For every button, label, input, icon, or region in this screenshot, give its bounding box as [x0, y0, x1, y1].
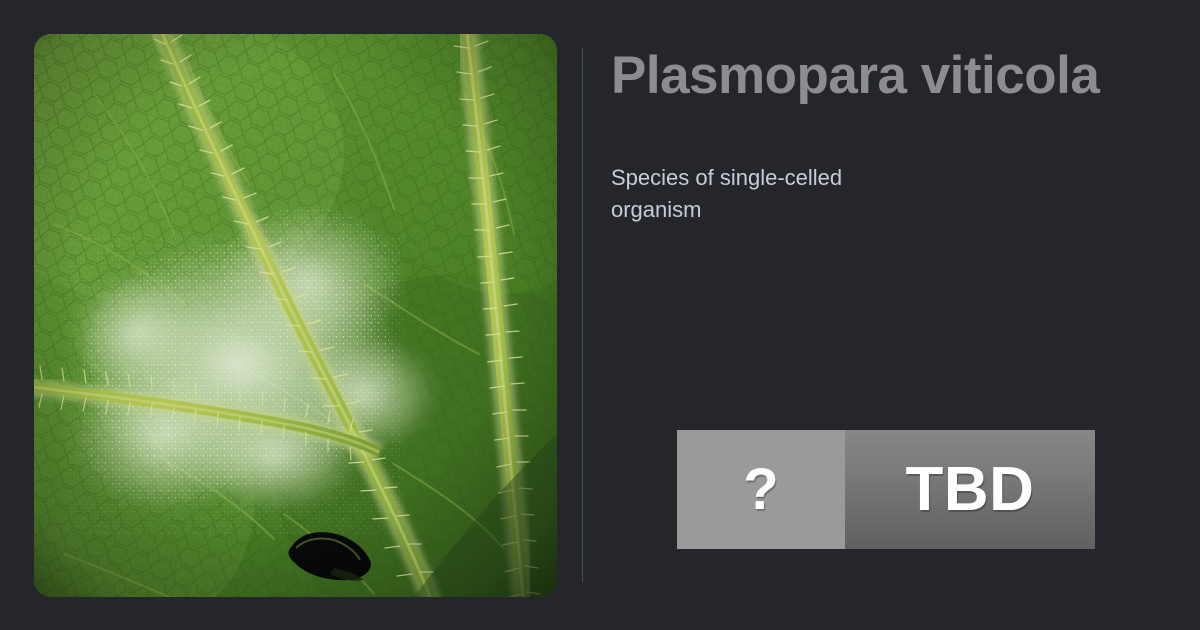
subject-image-container: [34, 34, 557, 597]
question-mark-icon: ?: [743, 461, 778, 519]
badge-right-section: TBD: [845, 430, 1095, 549]
pane-divider: [582, 48, 583, 582]
badge-left-section: ?: [677, 430, 845, 549]
open-graph-preview-card: Plasmopara viticola Species of single-ce…: [0, 0, 1200, 630]
leaf-photo: [34, 34, 557, 597]
page-title: Plasmopara viticola: [611, 44, 1099, 108]
entity-description: Species of single-celled organism: [611, 162, 911, 226]
badge-status-label: TBD: [906, 459, 1035, 521]
entity-info-pane: Plasmopara viticola Species of single-ce…: [611, 0, 1200, 630]
tbd-status-badge[interactable]: ? TBD: [677, 430, 1095, 549]
